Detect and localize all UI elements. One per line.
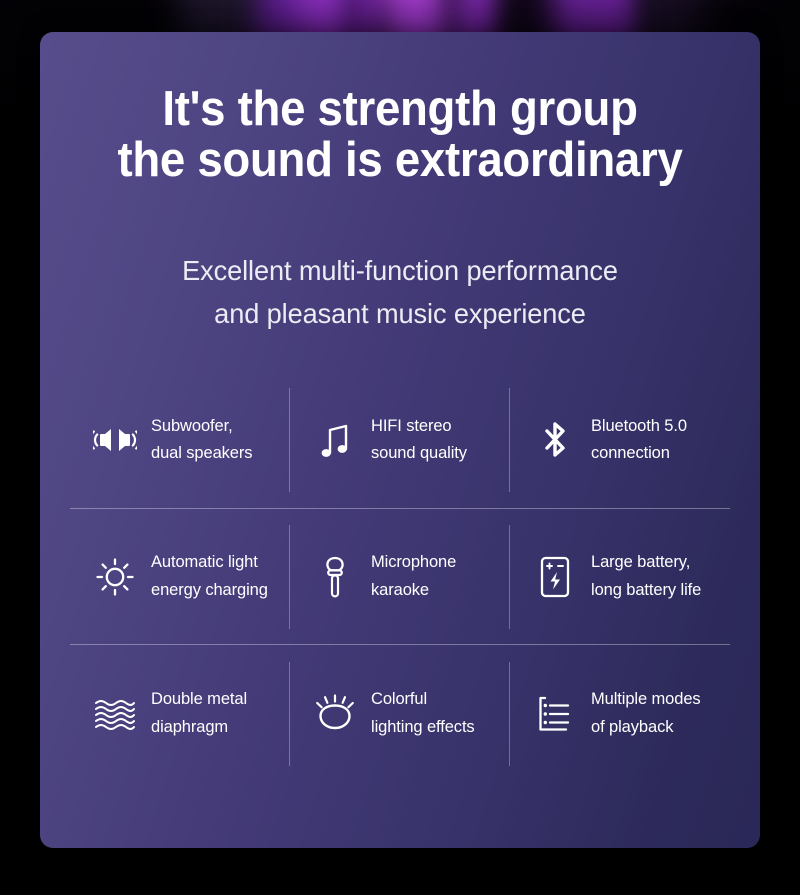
feature-item-bluetooth: Bluetooth 5.0 connection — [510, 372, 730, 509]
feature-item-subwoofer: Subwoofer, dual speakers — [70, 372, 290, 509]
headline-line-1: It's the strength group — [65, 84, 735, 135]
dual-speaker-icon — [92, 417, 138, 463]
headline-line-2: the sound is extraordinary — [65, 135, 735, 186]
feature-label: Bluetooth 5.0 connection — [591, 413, 687, 468]
playlist-icon — [532, 691, 578, 737]
feature-label: Colorful lighting effects — [371, 686, 475, 741]
feature-label: Automatic light energy charging — [151, 549, 268, 604]
feature-grid: Subwoofer, dual speakers HIFI stereo sou… — [70, 372, 730, 782]
feature-label: Large battery, long battery life — [591, 549, 701, 604]
feature-label: Double metal diaphragm — [151, 686, 247, 741]
music-note-icon — [312, 417, 358, 463]
microphone-icon — [312, 554, 358, 600]
sun-icon — [92, 554, 138, 600]
feature-item-light-charging: Automatic light energy charging — [70, 509, 290, 646]
page-title: It's the strength group the sound is ext… — [65, 84, 735, 187]
subheadline-line-1: Excellent multi-function performance — [51, 250, 749, 293]
feature-item-double-diaphragm: Double metal diaphragm — [70, 645, 290, 782]
feature-item-large-battery: Large battery, long battery life — [510, 509, 730, 646]
feature-label: HIFI stereo sound quality — [371, 413, 467, 468]
feature-label: Subwoofer, dual speakers — [151, 413, 252, 468]
page-subtitle: Excellent multi-function performance and… — [51, 250, 749, 335]
product-feature-card: It's the strength group the sound is ext… — [40, 32, 760, 848]
bluetooth-icon — [532, 417, 578, 463]
feature-label: Microphone karaoke — [371, 549, 456, 604]
feature-item-hifi-stereo: HIFI stereo sound quality — [290, 372, 510, 509]
feature-item-lighting-effects: Colorful lighting effects — [290, 645, 510, 782]
sound-waves-icon — [92, 691, 138, 737]
battery-charging-icon — [532, 554, 578, 600]
subheadline-line-2: and pleasant music experience — [51, 293, 749, 336]
feature-item-microphone-karaoke: Microphone karaoke — [290, 509, 510, 646]
feature-label: Multiple modes of playback — [591, 686, 701, 741]
lamp-glow-icon — [312, 691, 358, 737]
feature-item-playback-modes: Multiple modes of playback — [510, 645, 730, 782]
